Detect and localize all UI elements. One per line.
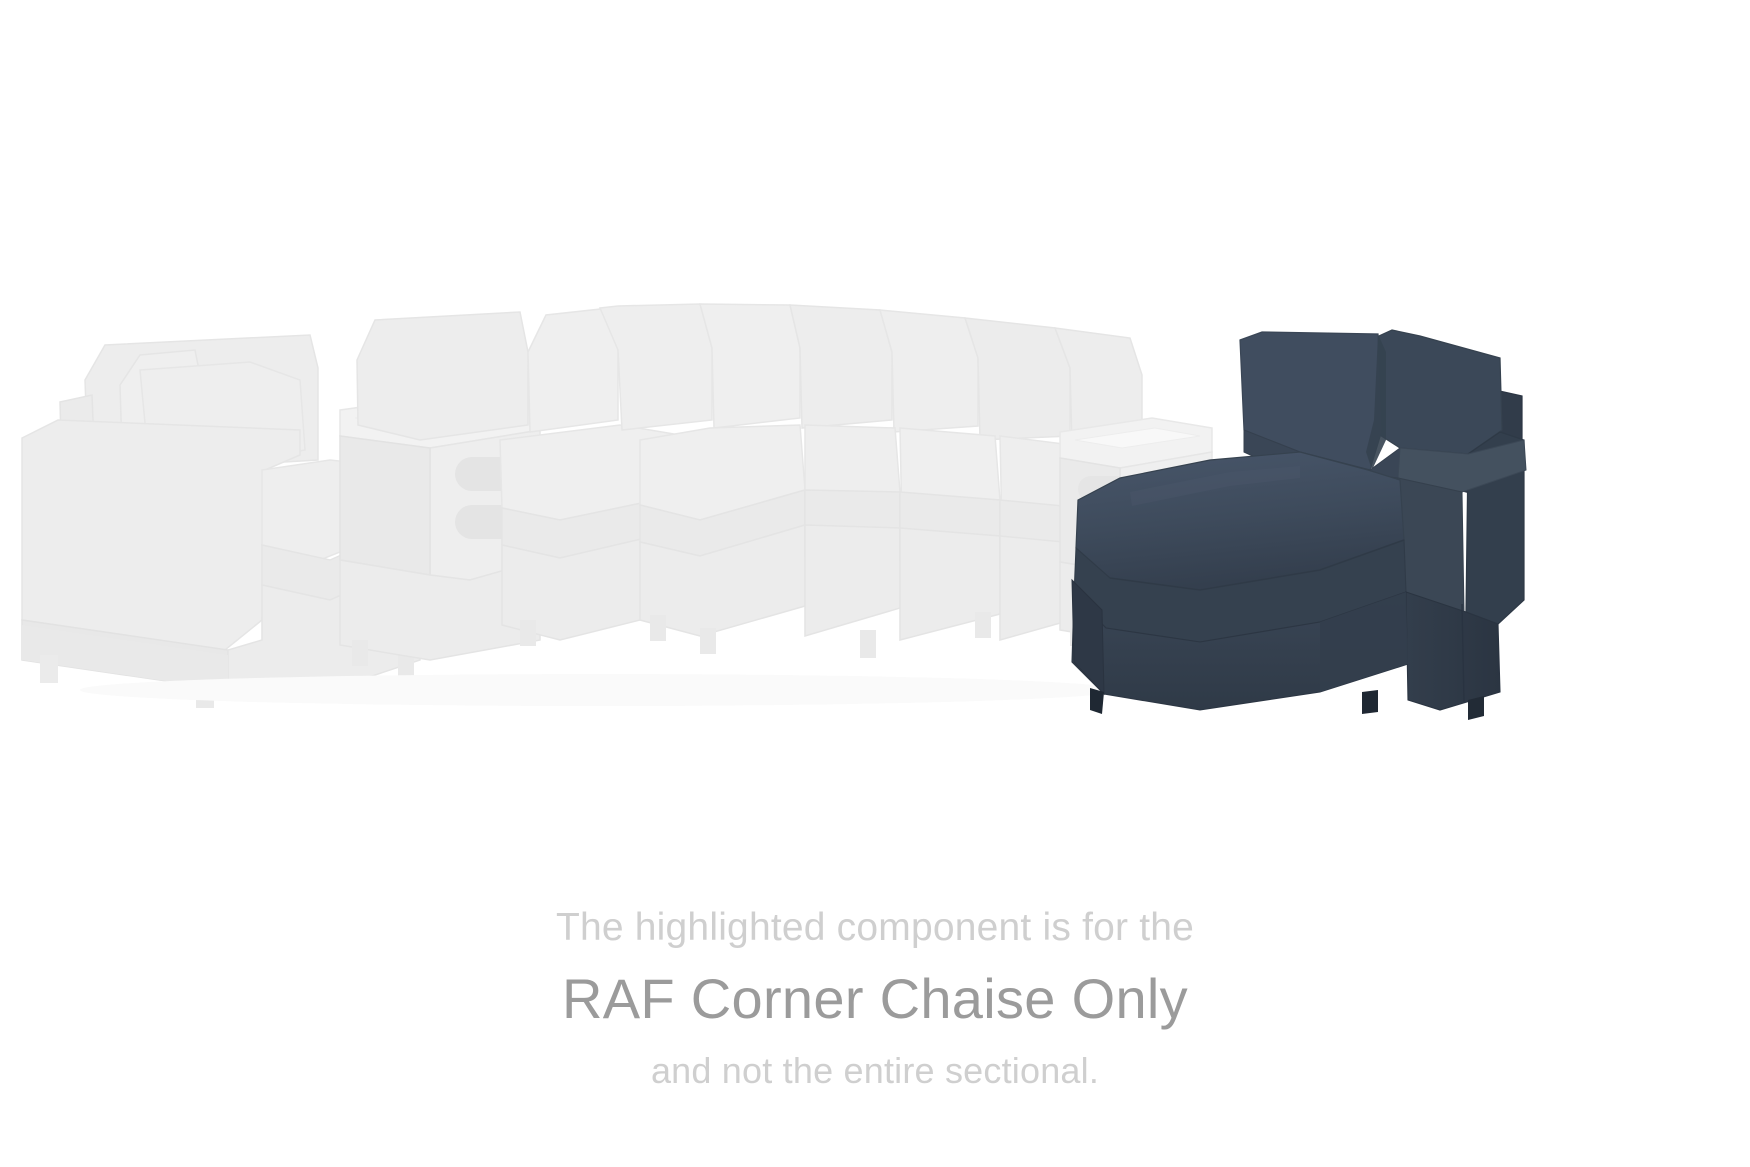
product-disclaimer-page: The highlighted component is for the RAF…	[0, 0, 1750, 1167]
ghost-armless-chair-2	[805, 425, 1000, 658]
product-illustration	[0, 0, 1750, 800]
sectional-diagram	[0, 0, 1750, 800]
ghosted-sectional	[22, 304, 1212, 708]
ghost-corner-wedge	[640, 425, 805, 654]
caption-line-3: and not the entire sectional.	[0, 1044, 1750, 1098]
caption-component-name: RAF Corner Chaise Only	[0, 962, 1750, 1036]
ghost-back-cushion-run	[600, 304, 1142, 446]
disclaimer-caption: The highlighted component is for the RAF…	[0, 900, 1750, 1098]
caption-line-1: The highlighted component is for the	[0, 900, 1750, 956]
